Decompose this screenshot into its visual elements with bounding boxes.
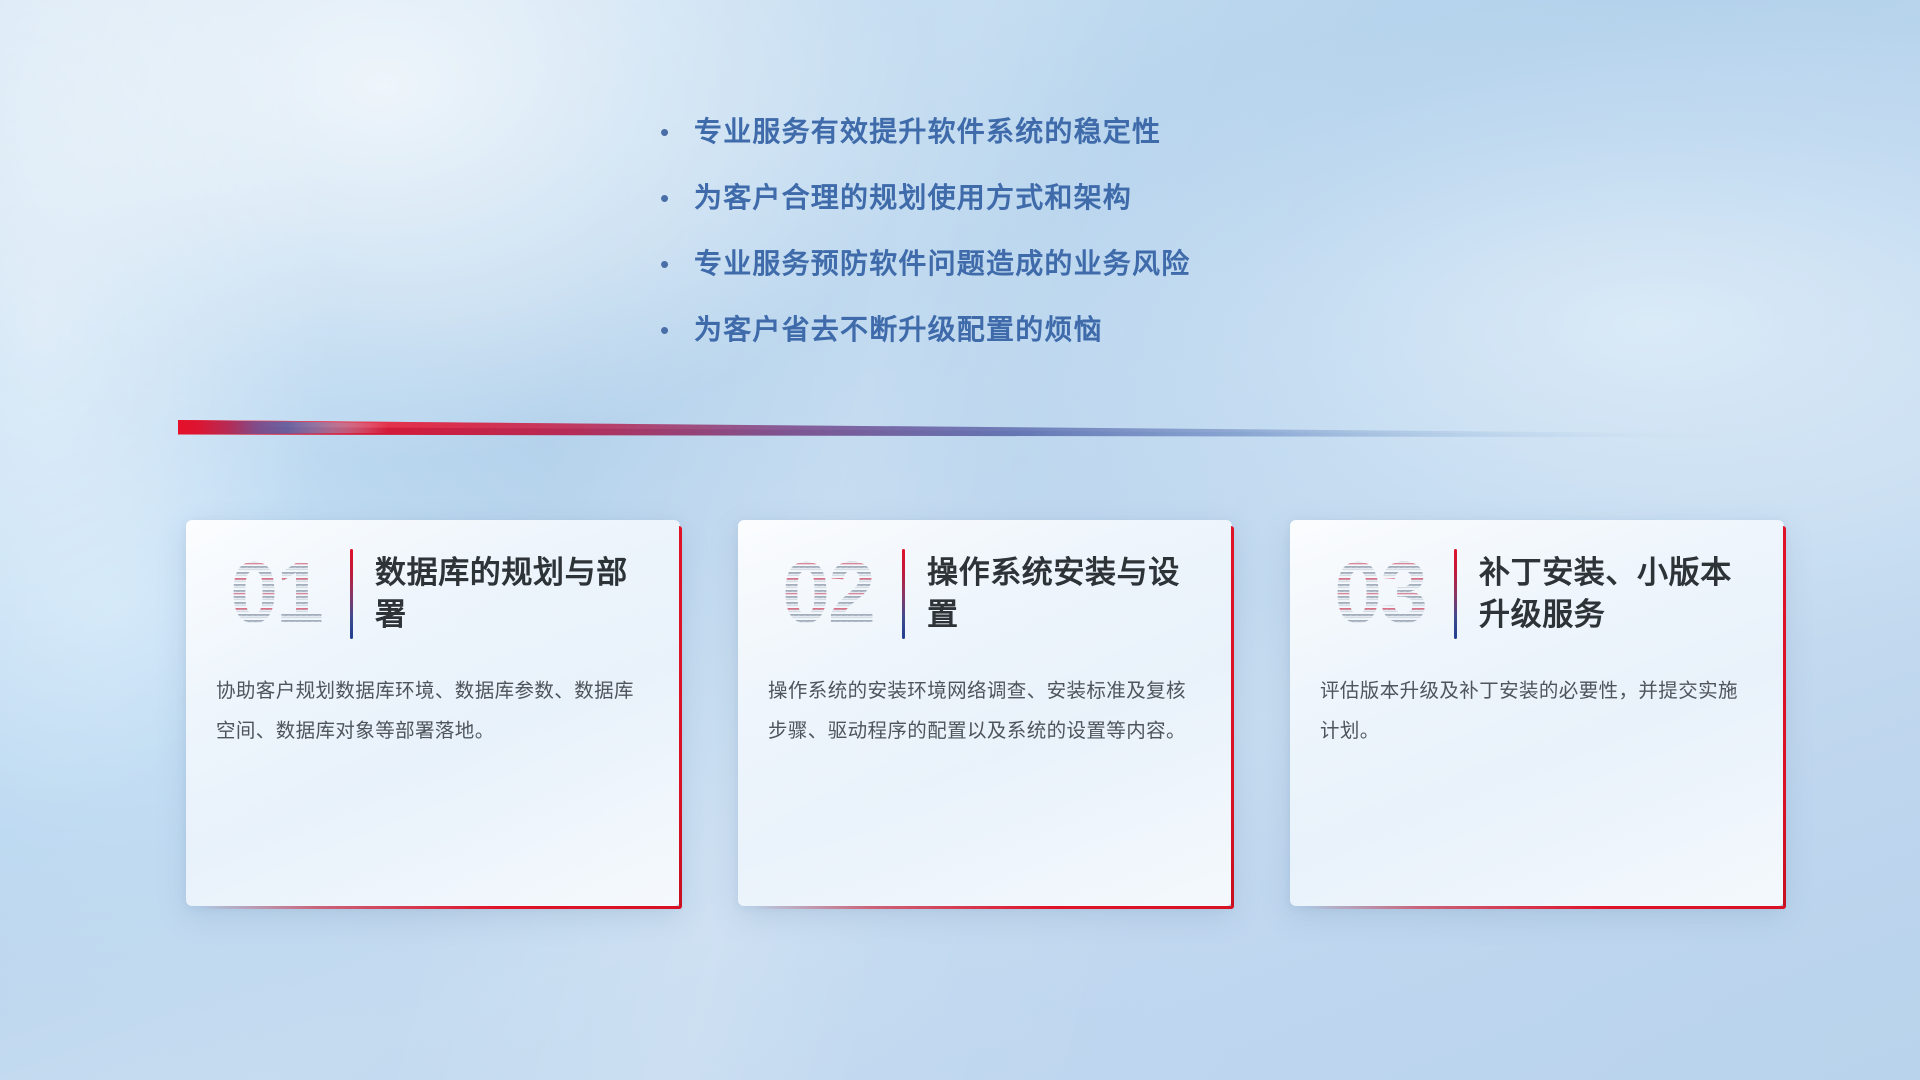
service-card-01[interactable]: 01 数据库的规划与部署 协助客户规划数据库环境、数据库参数、数据库空间、数据库… bbox=[186, 520, 680, 906]
card-description: 评估版本升级及补丁安装的必要性，并提交实施计划。 bbox=[1290, 668, 1784, 752]
list-item: • 专业服务预防软件问题造成的业务风险 bbox=[660, 242, 1560, 308]
list-item: • 为客户合理的规划使用方式和架构 bbox=[660, 176, 1560, 242]
card-header: 02 操作系统安装与设置 bbox=[738, 520, 1232, 668]
bullet-label: 为客户省去不断升级配置的烦恼 bbox=[694, 308, 1103, 348]
bullet-label: 专业服务有效提升软件系统的稳定性 bbox=[694, 110, 1161, 150]
service-card-03[interactable]: 03 补丁安装、小版本升级服务 评估版本升级及补丁安装的必要性，并提交实施计划。 bbox=[1290, 520, 1784, 906]
slide-canvas: • 专业服务有效提升软件系统的稳定性 • 为客户合理的规划使用方式和架构 • 专… bbox=[0, 0, 1920, 1080]
list-item: • 专业服务有效提升软件系统的稳定性 bbox=[660, 110, 1560, 176]
card-number-01-graphic: 01 bbox=[212, 542, 340, 646]
wedge-divider bbox=[178, 418, 1788, 452]
card-bottom-accent-bar bbox=[754, 906, 1234, 909]
striped-number-glyph: 01 bbox=[212, 542, 340, 646]
bullet-dot-icon: • bbox=[660, 317, 694, 343]
card-bottom-accent-bar bbox=[1306, 906, 1786, 909]
card-title-divider-rule bbox=[350, 549, 353, 639]
card-title: 补丁安装、小版本升级服务 bbox=[1479, 552, 1754, 636]
card-title: 数据库的规划与部署 bbox=[375, 552, 650, 636]
striped-number-glyph: 02 bbox=[764, 542, 892, 646]
bullet-label: 为客户合理的规划使用方式和架构 bbox=[694, 176, 1132, 216]
card-description: 操作系统的安装环境网络调查、安装标准及复核步骤、驱动程序的配置以及系统的设置等内… bbox=[738, 668, 1232, 752]
service-card-02[interactable]: 02 操作系统安装与设置 操作系统的安装环境网络调查、安装标准及复核步骤、驱动程… bbox=[738, 520, 1232, 906]
bullet-label: 专业服务预防软件问题造成的业务风险 bbox=[694, 242, 1190, 282]
card-number-02-graphic: 02 bbox=[764, 542, 892, 646]
card-description: 协助客户规划数据库环境、数据库参数、数据库空间、数据库对象等部署落地。 bbox=[186, 668, 680, 752]
bullet-dot-icon: • bbox=[660, 185, 694, 211]
card-title-divider-rule bbox=[902, 549, 905, 639]
card-title-divider-rule bbox=[1454, 549, 1457, 639]
card-bottom-accent-bar bbox=[202, 906, 682, 909]
card-number-03-graphic: 03 bbox=[1316, 542, 1444, 646]
card-title: 操作系统安装与设置 bbox=[927, 552, 1202, 636]
bullet-dot-icon: • bbox=[660, 119, 694, 145]
striped-number-glyph: 03 bbox=[1316, 542, 1444, 646]
card-header: 03 补丁安装、小版本升级服务 bbox=[1290, 520, 1784, 668]
benefits-bullet-list: • 专业服务有效提升软件系统的稳定性 • 为客户合理的规划使用方式和架构 • 专… bbox=[660, 110, 1560, 374]
service-card-group: 01 数据库的规划与部署 协助客户规划数据库环境、数据库参数、数据库空间、数据库… bbox=[186, 520, 1786, 920]
bullet-dot-icon: • bbox=[660, 251, 694, 277]
card-header: 01 数据库的规划与部署 bbox=[186, 520, 680, 668]
wedge-divider-shape bbox=[178, 418, 1788, 452]
list-item: • 为客户省去不断升级配置的烦恼 bbox=[660, 308, 1560, 374]
